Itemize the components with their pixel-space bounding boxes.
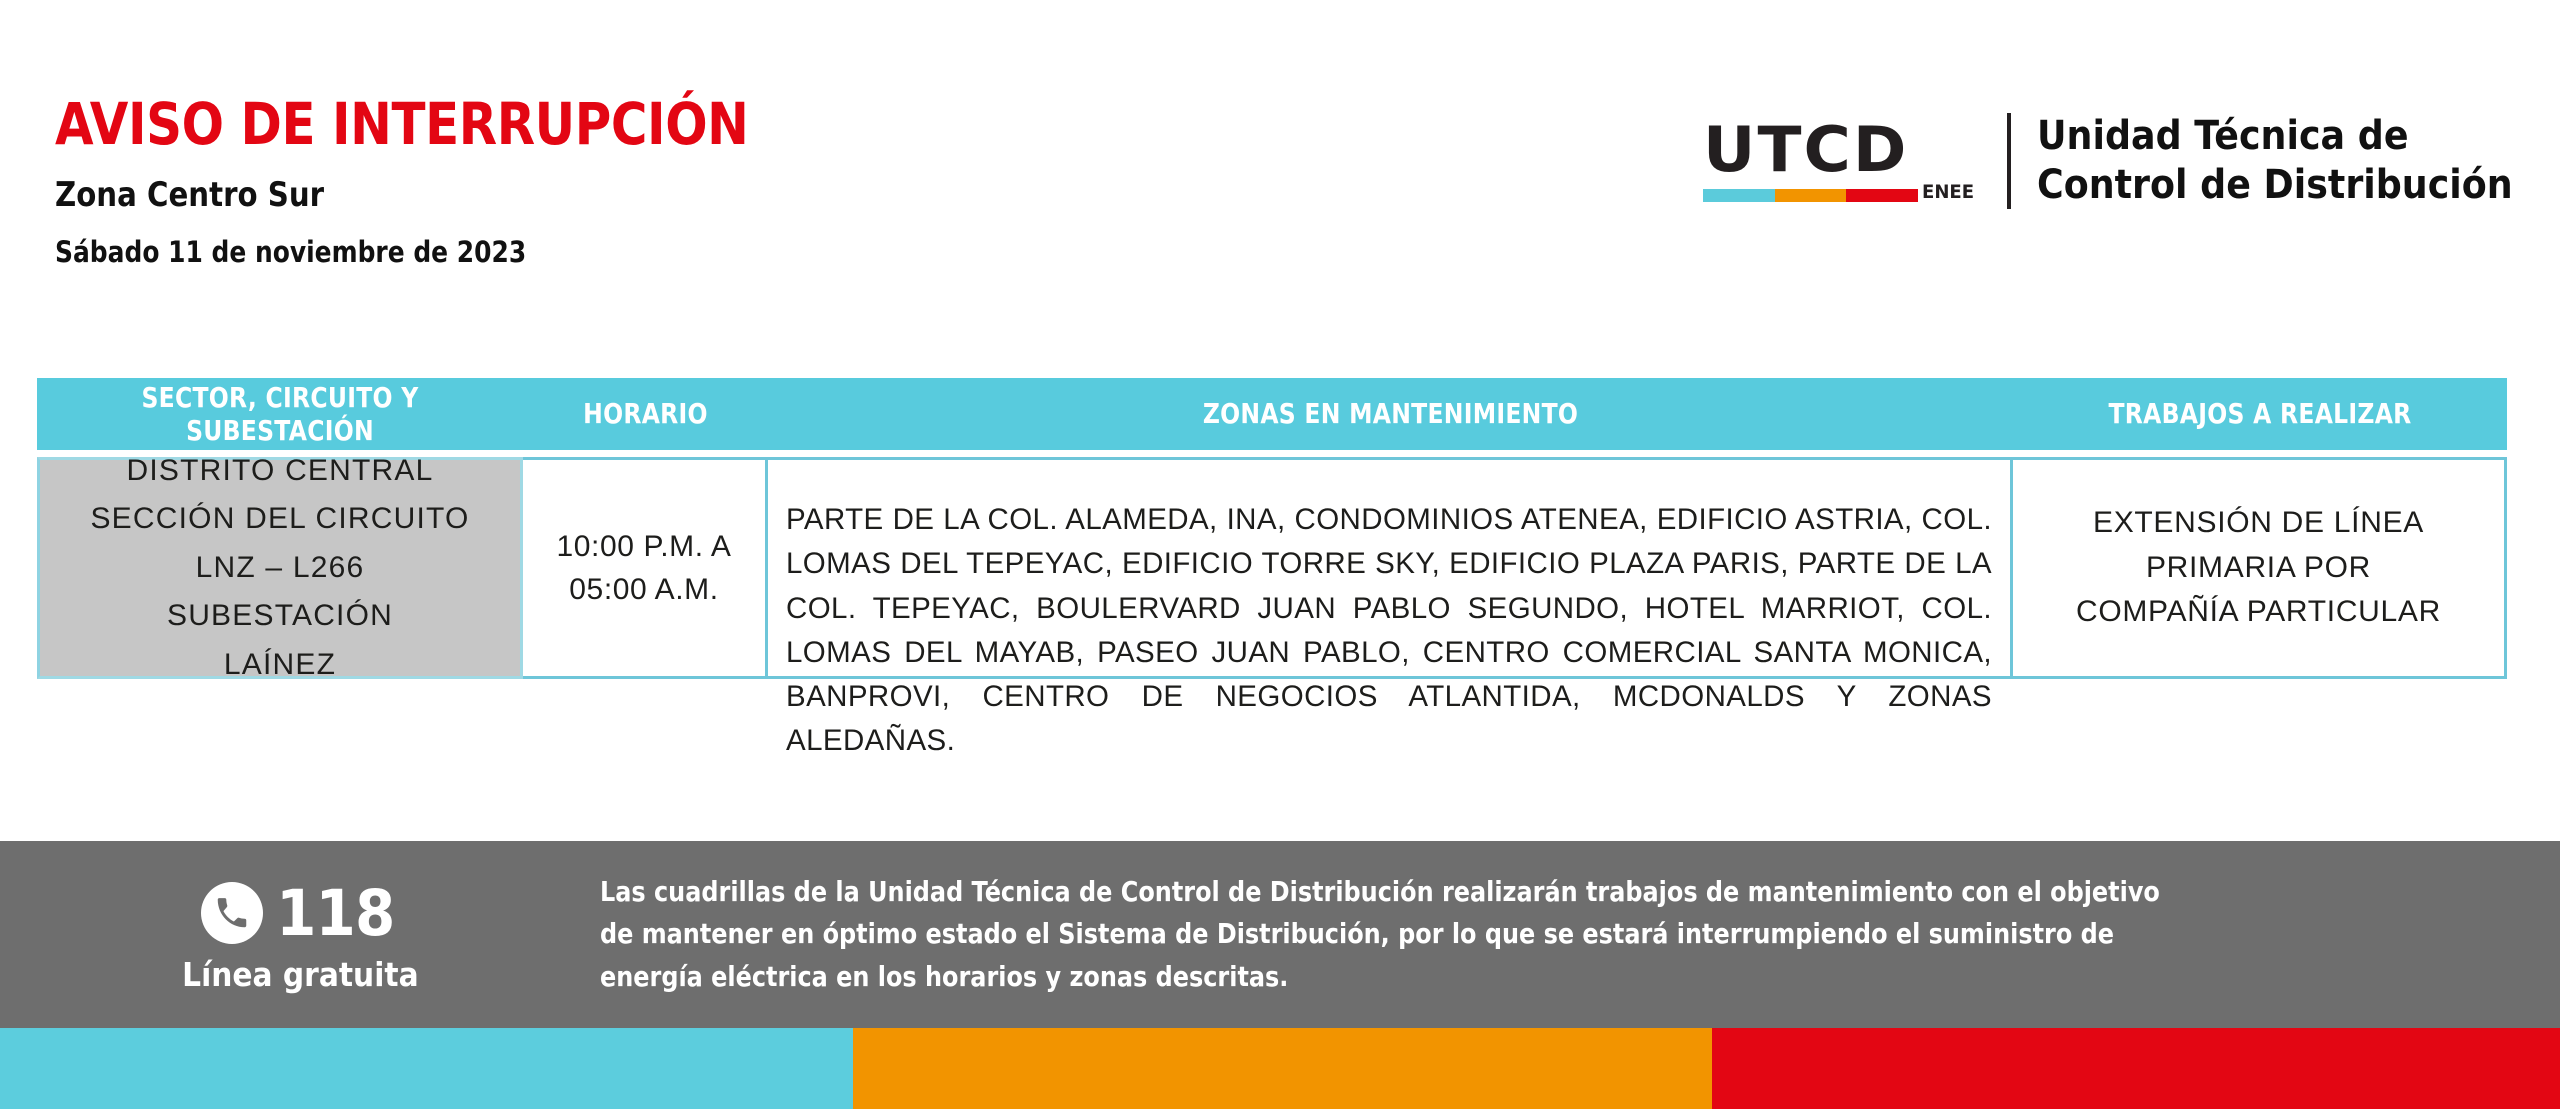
horario-line1: 10:00 P.M. A xyxy=(556,525,731,569)
column-header-zonas: ZONAS EN MANTENIMIENTO xyxy=(868,397,1914,430)
sector-circuit-line2: LNZ – L266 xyxy=(196,544,365,593)
column-header-sector-line1: SECTOR, CIRCUITO Y xyxy=(76,381,484,414)
trabajos-line1: EXTENSIÓN DE LÍNEA xyxy=(2076,501,2441,545)
bottom-bar-orange xyxy=(853,1028,1712,1109)
hotline-number: 118 xyxy=(276,882,394,945)
hotline-block: 118 Línea gratuita xyxy=(0,876,600,994)
logo-enee-label: ENEE xyxy=(1922,183,1974,202)
hotline-row: 118 xyxy=(201,882,400,945)
logo-bar-orange xyxy=(1775,189,1847,202)
logo-wordmark: UTCD xyxy=(1703,119,2005,181)
outage-table: SECTOR, CIRCUITO Y SUBESTACIÓN HORARIO Z… xyxy=(37,378,2507,679)
horario-line2: 05:00 A.M. xyxy=(556,568,731,612)
logo-colorbars xyxy=(1703,189,1918,202)
title-block: AVISO DE INTERRUPCIÓN Zona Centro Sur Sá… xyxy=(55,95,861,269)
utcd-logo: UTCD ENEE Unidad Técnica de Control de D… xyxy=(1703,112,2560,210)
logo-institution-line2: Control de Distribución xyxy=(2037,161,2513,210)
phone-icon xyxy=(201,882,263,944)
sector-circuit-line1: SECCIÓN DEL CIRCUITO xyxy=(90,495,469,544)
logo-divider xyxy=(2007,113,2011,209)
trabajos-line2: PRIMARIA POR xyxy=(2076,546,2441,590)
cell-sector: DISTRITO CENTRAL SECCIÓN DEL CIRCUITO LN… xyxy=(37,457,523,679)
page-title: AVISO DE INTERRUPCIÓN xyxy=(55,95,748,153)
table-row: DISTRITO CENTRAL SECCIÓN DEL CIRCUITO LN… xyxy=(37,457,2507,679)
logo-colorbar-row: ENEE xyxy=(1703,188,1993,202)
sector-substation-line2: LAÍNEZ xyxy=(224,641,336,690)
cell-zonas: PARTE DE LA COL. ALAMEDA, INA, CONDOMINI… xyxy=(768,457,2013,679)
hotline-label: Línea gratuita xyxy=(182,955,418,994)
page-footer: 118 Línea gratuita Las cuadrillas de la … xyxy=(0,841,2560,1028)
cell-horario: 10:00 P.M. A 05:00 A.M. xyxy=(523,457,768,679)
logo-bar-red xyxy=(1846,189,1918,202)
page-header: AVISO DE INTERRUPCIÓN Zona Centro Sur Sá… xyxy=(0,0,2560,378)
footer-notice: Las cuadrillas de la Unidad Técnica de C… xyxy=(600,871,2276,999)
logo-mark: UTCD ENEE xyxy=(1703,119,1993,202)
bottom-color-bar xyxy=(0,1028,2560,1109)
date-subtitle: Sábado 11 de noviembre de 2023 xyxy=(55,235,748,269)
logo-institution-line1: Unidad Técnica de xyxy=(2037,112,2513,161)
bottom-bar-cyan xyxy=(0,1028,853,1109)
table-header-row: SECTOR, CIRCUITO Y SUBESTACIÓN HORARIO Z… xyxy=(37,378,2507,450)
sector-district: DISTRITO CENTRAL xyxy=(126,447,433,496)
column-header-trabajos: TRABAJOS A REALIZAR xyxy=(2053,397,2468,430)
cell-trabajos: EXTENSIÓN DE LÍNEA PRIMARIA POR COMPAÑÍA… xyxy=(2013,457,2507,679)
logo-institution-name: Unidad Técnica de Control de Distribució… xyxy=(2037,112,2513,210)
sector-substation-line1: SUBESTACIÓN xyxy=(167,592,393,641)
bottom-bar-red xyxy=(1712,1028,2560,1109)
zone-subtitle: Zona Centro Sur xyxy=(55,175,748,215)
column-header-sector: SECTOR, CIRCUITO Y SUBESTACIÓN xyxy=(76,381,484,447)
logo-bar-cyan xyxy=(1703,189,1775,202)
column-header-horario: HORARIO xyxy=(543,397,749,430)
trabajos-line3: COMPAÑÍA PARTICULAR xyxy=(2076,590,2441,634)
column-header-sector-line2: SUBESTACIÓN xyxy=(76,414,484,447)
